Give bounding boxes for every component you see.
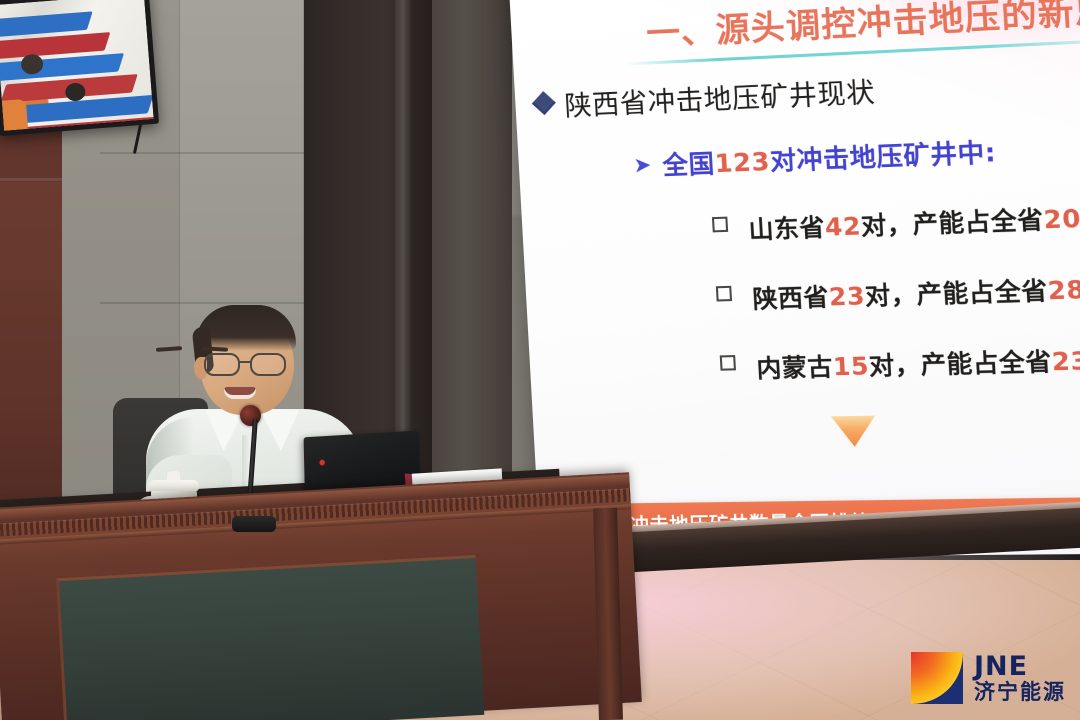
microphone-head [240,405,261,426]
list-item-text: 内蒙古15对，产能占全省23% [755,339,1080,384]
item-count: 23 [828,282,866,312]
slide-title: 一、源头调控冲击地压的新思路 [645,0,1080,55]
item-province: 内蒙古 [756,353,834,383]
photo-scene: 一、源头调控冲击地压的新思路 陕西省冲击地压矿井现状 ➤ 全国123对冲击地压矿… [0,0,1080,720]
glasses-lens-left [204,353,240,376]
down-triangle-icon [831,416,877,448]
jne-logo-mark-icon [911,652,963,704]
watermark-logo: JNE 济宁能源 [911,652,1066,704]
slide-item-list: 山东省42对，产能占全省20% 陕西省23对，产能占全省28% 内蒙古15对，产… [712,196,1080,385]
speaker-eyebrow-left [156,346,182,352]
arrow-bullet-icon: ➤ [633,154,652,176]
watermark-brand-cn: 济宁能源 [974,682,1066,703]
slide-level2-row: ➤ 全国123对冲击地压矿井中: [632,127,1080,184]
wall-wood-seam [0,178,62,181]
item-count: 15 [832,352,870,382]
level2-number: 123 [714,147,771,179]
item-province: 陕西省 [752,283,830,314]
square-bullet-icon [720,355,736,371]
desk-front-panel [56,555,484,720]
slide-level1-row: 陕西省冲击地压矿井现状 [534,59,1080,125]
list-item: 陕西省23对，产能占全省28% [715,267,1080,315]
item-mid: 对，产能占全省 [868,347,1053,380]
speaker-mouth [224,387,256,399]
item-mid: 对，产能占全省 [860,205,1044,240]
wall-monitor [0,0,159,136]
item-mid: 对，产能占全省 [864,276,1048,310]
square-bullet-icon [712,217,728,233]
podium-desk [0,472,642,720]
watermark-brand-latin: JNE [974,653,1066,680]
wall-seam [100,152,304,154]
item-percent: 23% [1051,346,1080,377]
microphone-base [232,516,276,532]
level2-prefix: 全国 [662,149,716,180]
square-bullet-icon [716,286,732,302]
list-item: 山东省42对，产能占全省20% [712,196,1080,247]
glasses-bridge [240,361,252,363]
slide-level2-text: 全国123对冲击地压矿井中: [661,132,996,182]
wall-seam [100,302,304,304]
monitor-screen-content [0,0,154,131]
speaker-glasses [202,353,294,377]
slide-level1-text: 陕西省冲击地压矿井现状 [563,70,876,124]
item-count: 42 [824,212,862,242]
watermark-text-block: JNE 济宁能源 [974,653,1066,703]
item-percent: 20% [1043,203,1080,234]
list-item-text: 山东省42对，产能占全省20% [748,197,1080,246]
list-item: 内蒙古15对，产能占全省23% [719,339,1080,385]
item-percent: 28% [1047,274,1080,305]
tea-cup-knob [167,471,180,482]
level2-suffix: 对冲击地压矿井中: [769,137,997,176]
laptop-logo-dot [319,459,325,465]
item-province: 山东省 [748,213,826,244]
glasses-lens-right [250,353,286,376]
diamond-bullet-icon [532,91,556,115]
list-item-text: 陕西省23对，产能占全省28% [751,268,1080,315]
